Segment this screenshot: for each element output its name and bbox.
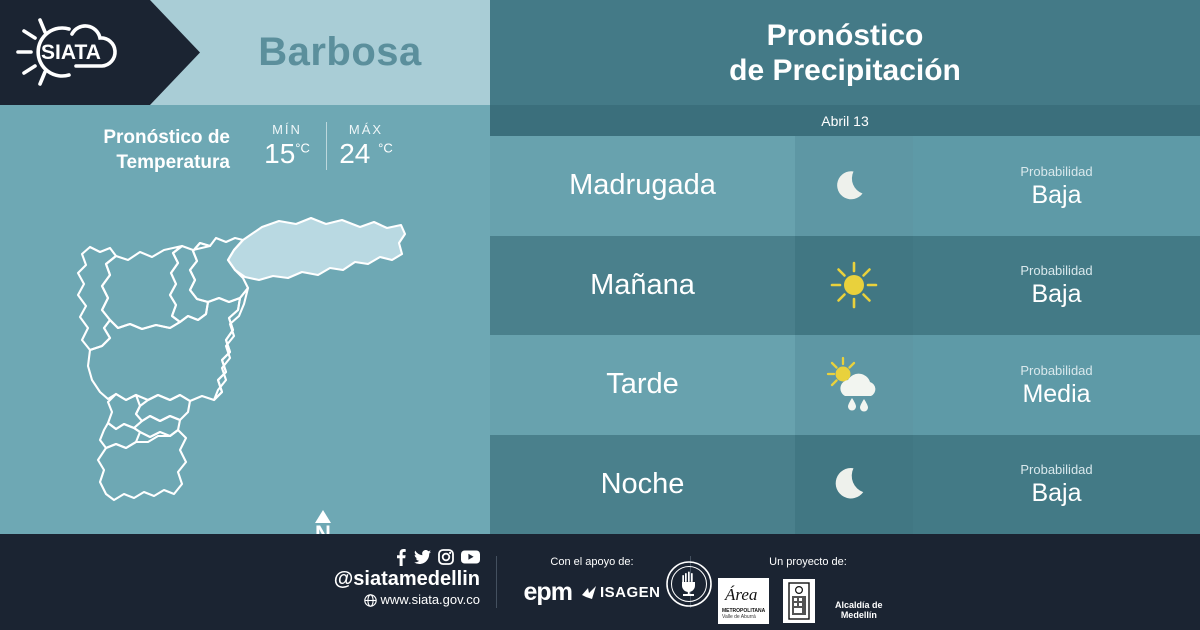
map-region-northwest: [78, 247, 116, 350]
temperature-label-line1: Pronóstico de: [60, 125, 230, 150]
facebook-icon[interactable]: [395, 549, 407, 566]
sun-icon: [827, 258, 881, 312]
footer-website[interactable]: www.siata.gov.co: [330, 591, 480, 609]
weather-icon-cell: [795, 236, 913, 336]
aburra-valley-map: N: [30, 180, 470, 530]
social-icons: [330, 548, 480, 566]
forecast-row: Madrugada Probabilidad Baja: [490, 136, 1200, 236]
weather-icon-cell: [795, 136, 913, 236]
moon-icon: [831, 163, 877, 209]
isagen-logo: ISAGEN: [582, 584, 661, 601]
footer: @siatamedellin www.siata.gov.co Con el a…: [0, 534, 1200, 630]
probability-caption: Probabilidad: [1020, 262, 1092, 280]
probability-cell: Probabilidad Baja: [913, 435, 1200, 535]
weather-infographic: SIATA Barbosa Pronóstico de Temperatura …: [0, 0, 1200, 630]
footer-social: @siatamedellin www.siata.gov.co: [330, 548, 480, 609]
temperature-max-value: 24 °C: [327, 138, 405, 170]
period-label: Noche: [601, 468, 685, 501]
period-label: Madrugada: [569, 169, 716, 202]
probability-cell: Probabilidad Baja: [913, 236, 1200, 336]
probability-value: Baja: [1031, 181, 1081, 209]
social-handle[interactable]: @siatamedellin: [330, 567, 480, 591]
footer-project: Un proyecto de: Área METROPOLITANA Valle…: [718, 556, 898, 624]
period-cell: Mañana: [490, 236, 795, 336]
isagen-text: ISAGEN: [600, 584, 661, 601]
period-cell: Noche: [490, 435, 795, 535]
forecast-row: Noche Probabilidad Baja: [490, 435, 1200, 535]
siata-logo-text: SIATA: [41, 41, 101, 64]
forecast-date: Abril 13: [490, 105, 1200, 136]
min-number: 15: [264, 138, 295, 169]
temperature-values: MÍN 15°C MÁX 24 °C: [248, 122, 405, 170]
map-region-barbosa: [228, 218, 405, 280]
forecast-row: Mañana: [490, 236, 1200, 336]
min-unit: °C: [295, 141, 310, 156]
temperature-block: Pronóstico de Temperatura MÍN 15°C MÁX 2…: [60, 122, 460, 184]
period-cell: Madrugada: [490, 136, 795, 236]
logo-band: SIATA Barbosa: [0, 0, 490, 105]
period-cell: Tarde: [490, 335, 795, 435]
isagen-mark-icon: [582, 586, 597, 600]
probability-cell: Probabilidad Media: [913, 335, 1200, 435]
probability-caption: Probabilidad: [1020, 163, 1092, 181]
weather-icon-cell: [795, 435, 913, 535]
twitter-icon[interactable]: [414, 550, 431, 565]
left-panel: SIATA Barbosa Pronóstico de Temperatura …: [0, 0, 490, 534]
probability-cell: Probabilidad Baja: [913, 136, 1200, 236]
period-label: Tarde: [606, 368, 679, 401]
footer-support: Con el apoyo de: epm ISAGEN: [512, 556, 672, 607]
precipitation-title-line1: Pronóstico: [767, 18, 924, 53]
support-logos: epm ISAGEN: [512, 578, 672, 607]
globe-icon: [364, 594, 377, 607]
alcaldia-crest-icon: [783, 579, 815, 623]
max-number: 24: [339, 138, 370, 169]
temperature-min: MÍN 15°C: [248, 122, 327, 170]
youtube-icon[interactable]: [461, 550, 480, 564]
alcaldia-shield-icon: [783, 579, 815, 623]
city-title: Barbosa: [190, 0, 490, 105]
probability-value: Baja: [1031, 479, 1081, 507]
siata-logo-icon: SIATA: [14, 12, 134, 92]
probability-value: Media: [1022, 380, 1090, 408]
area-mark-text: Área: [725, 585, 757, 605]
alcaldia-logo: Alcaldía de Medellín: [783, 579, 898, 623]
alcaldia-label: Alcaldía de Medellín: [820, 600, 898, 623]
moon-icon: [829, 459, 879, 509]
instagram-icon[interactable]: [438, 549, 454, 565]
right-panel: Pronóstico de Precipitación Abril 13 Mad…: [490, 0, 1200, 534]
precipitation-title-line2: de Precipitación: [729, 53, 961, 88]
map-region-caldas: [98, 430, 186, 500]
precipitation-header: Pronóstico de Precipitación: [490, 0, 1200, 105]
map-svg: [30, 180, 470, 530]
map-region-east-edge: [214, 288, 248, 400]
temperature-min-label: MÍN: [248, 122, 326, 137]
temperature-max: MÁX 24 °C: [327, 122, 405, 170]
max-unit: °C: [378, 141, 393, 156]
forecast-row: Tarde: [490, 335, 1200, 435]
udea-seal-icon: [665, 560, 713, 608]
website-text: www.siata.gov.co: [381, 591, 480, 609]
forecast-rows: Madrugada Probabilidad Baja Mañana: [490, 136, 1200, 534]
footer-divider-1: [496, 556, 497, 608]
probability-value: Baja: [1031, 280, 1081, 308]
project-caption: Un proyecto de:: [718, 556, 898, 568]
probability-caption: Probabilidad: [1020, 362, 1092, 380]
temperature-label-line2: Temperatura: [60, 150, 230, 175]
probability-caption: Probabilidad: [1020, 461, 1092, 479]
weather-icon-cell: [795, 335, 913, 435]
temperature-max-label: MÁX: [327, 122, 405, 137]
map-region-medellin: [88, 298, 240, 401]
epm-logo: epm: [524, 578, 572, 607]
project-logos: Área METROPOLITANA Valle de Aburrá: [718, 578, 898, 624]
area-label-2: Valle de Aburrá: [722, 614, 756, 620]
support-caption: Con el apoyo de:: [512, 556, 672, 568]
temperature-label: Pronóstico de Temperatura: [60, 122, 230, 175]
temperature-min-value: 15°C: [248, 138, 326, 170]
area-metropolitana-logo: Área METROPOLITANA Valle de Aburrá: [718, 578, 769, 624]
period-label: Mañana: [590, 269, 695, 302]
sun-cloud-rain-icon: [824, 356, 884, 414]
